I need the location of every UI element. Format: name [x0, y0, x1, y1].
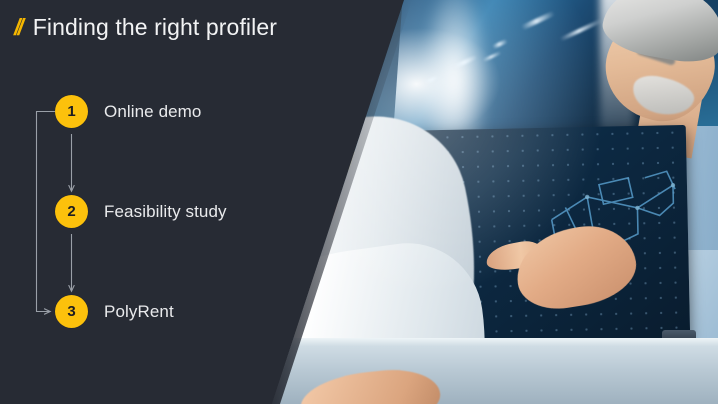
step-1-label: Online demo [104, 102, 202, 122]
slide-canvas: // Finding the right profiler 1 Online d… [0, 0, 718, 404]
connector-bypass-1-3 [37, 112, 56, 312]
step-3-badge: 3 [55, 295, 88, 328]
step-1-badge: 1 [55, 95, 88, 128]
flow-step-3[interactable]: 3 PolyRent [55, 295, 174, 328]
flow-step-1[interactable]: 1 Online demo [55, 95, 202, 128]
content-panel: // Finding the right profiler 1 Online d… [0, 0, 404, 404]
step-2-badge: 2 [55, 195, 88, 228]
step-2-label: Feasibility study [104, 202, 227, 222]
flow-step-2[interactable]: 2 Feasibility study [55, 195, 227, 228]
step-3-label: PolyRent [104, 302, 174, 322]
